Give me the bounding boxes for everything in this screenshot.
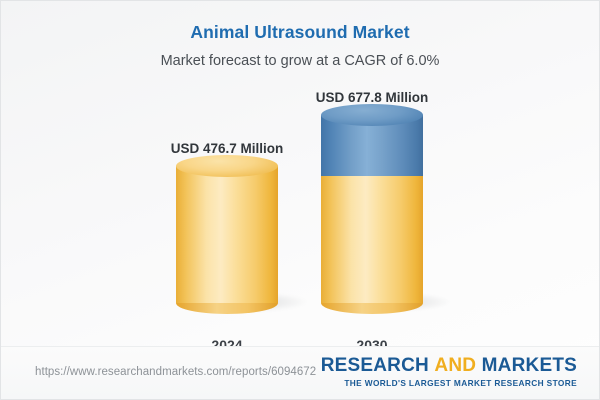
cylinder-2030 <box>321 115 423 303</box>
logo-word-research: RESEARCH <box>321 355 429 376</box>
bar-value-label-2024: USD 476.7 Million <box>147 141 307 156</box>
market-infographic: Animal Ultrasound Market Market forecast… <box>0 0 600 400</box>
cylinder-top-cap <box>176 155 278 177</box>
bar-segment-base-2030 <box>321 176 423 303</box>
bar-segment-growth-2030 <box>321 115 423 176</box>
cylinder-body <box>176 166 278 303</box>
footer: https://www.researchandmarkets.com/repor… <box>1 346 599 399</box>
chart-plot-area: USD 476.7 Million 2024 USD 677.8 Million <box>1 1 600 346</box>
logo-word-markets: MARKETS <box>482 355 577 376</box>
brand-logo[interactable]: RESEARCH AND MARKETS THE WORLD'S LARGEST… <box>321 356 577 388</box>
bar-segment-base-2024 <box>176 166 278 303</box>
cylinder-2024 <box>176 166 278 303</box>
logo-word-and: AND <box>434 355 476 376</box>
cylinder-body <box>321 176 423 303</box>
report-url[interactable]: https://www.researchandmarkets.com/repor… <box>35 366 316 378</box>
logo-tagline: THE WORLD'S LARGEST MARKET RESEARCH STOR… <box>321 378 577 388</box>
cylinder-top-cap <box>321 104 423 126</box>
bar-value-label-2030: USD 677.8 Million <box>292 90 452 105</box>
logo-wordmark: RESEARCH AND MARKETS <box>321 356 577 376</box>
cylinder-stack-2024 <box>176 166 278 303</box>
cylinder-stack-2030 <box>321 115 423 303</box>
